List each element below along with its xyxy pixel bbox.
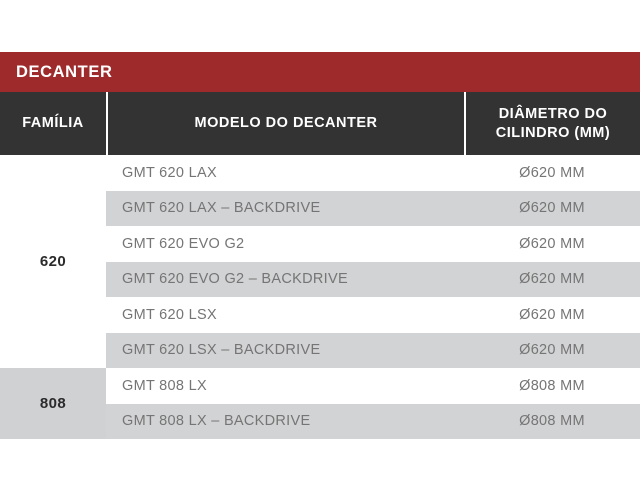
cell-diametro: Ø620 MM — [464, 262, 640, 298]
cell-modelo: GMT 620 EVO G2 – BACKDRIVE — [106, 262, 464, 298]
table-body: 620808 GMT 620 LAXØ620 MMGMT 620 LAX – B… — [0, 155, 640, 439]
column-header-modelo: MODELO DO DECANTER — [106, 92, 464, 155]
cell-modelo: GMT 620 LAX – BACKDRIVE — [106, 191, 464, 227]
family-cell-808: 808 — [0, 368, 106, 439]
family-label: 620 — [40, 253, 66, 270]
table-row: GMT 620 LSXØ620 MM — [106, 297, 640, 333]
table-row: GMT 620 EVO G2Ø620 MM — [106, 226, 640, 262]
table-title-bar: DECANTER — [0, 52, 640, 92]
cell-diametro: Ø620 MM — [464, 155, 640, 191]
rows-column: GMT 620 LAXØ620 MMGMT 620 LAX – BACKDRIV… — [106, 155, 640, 439]
cell-diametro: Ø808 MM — [464, 404, 640, 440]
cell-diametro: Ø808 MM — [464, 368, 640, 404]
page-root: DECANTER FAMÍLIA MODELO DO DECANTER DIÂM… — [0, 0, 640, 480]
table-row: GMT 620 LSX – BACKDRIVEØ620 MM — [106, 333, 640, 369]
cell-modelo: GMT 808 LX — [106, 368, 464, 404]
column-header-diametro-line2: CILINDRO (MM) — [496, 124, 610, 142]
cell-diametro: Ø620 MM — [464, 297, 640, 333]
decanter-table: DECANTER FAMÍLIA MODELO DO DECANTER DIÂM… — [0, 52, 640, 439]
table-row: GMT 620 LAX – BACKDRIVEØ620 MM — [106, 191, 640, 227]
cell-modelo: GMT 620 LAX — [106, 155, 464, 191]
family-column: 620808 — [0, 155, 106, 439]
table-row: GMT 620 EVO G2 – BACKDRIVEØ620 MM — [106, 262, 640, 298]
cell-modelo: GMT 620 LSX — [106, 297, 464, 333]
table-title: DECANTER — [0, 63, 112, 82]
table-header-row: FAMÍLIA MODELO DO DECANTER DIÂMETRO DO C… — [0, 92, 640, 155]
table-row: GMT 620 LAXØ620 MM — [106, 155, 640, 191]
cell-modelo: GMT 620 LSX – BACKDRIVE — [106, 333, 464, 369]
column-header-diametro: DIÂMETRO DO CILINDRO (MM) — [464, 92, 640, 155]
column-header-diametro-line1: DIÂMETRO DO — [496, 105, 610, 123]
cell-diametro: Ø620 MM — [464, 191, 640, 227]
table-row: GMT 808 LX – BACKDRIVEØ808 MM — [106, 404, 640, 440]
column-header-familia: FAMÍLIA — [0, 92, 106, 155]
family-cell-620: 620 — [0, 155, 106, 368]
table-row: GMT 808 LXØ808 MM — [106, 368, 640, 404]
cell-diametro: Ø620 MM — [464, 333, 640, 369]
cell-modelo: GMT 620 EVO G2 — [106, 226, 464, 262]
family-label: 808 — [40, 395, 66, 412]
cell-modelo: GMT 808 LX – BACKDRIVE — [106, 404, 464, 440]
cell-diametro: Ø620 MM — [464, 226, 640, 262]
